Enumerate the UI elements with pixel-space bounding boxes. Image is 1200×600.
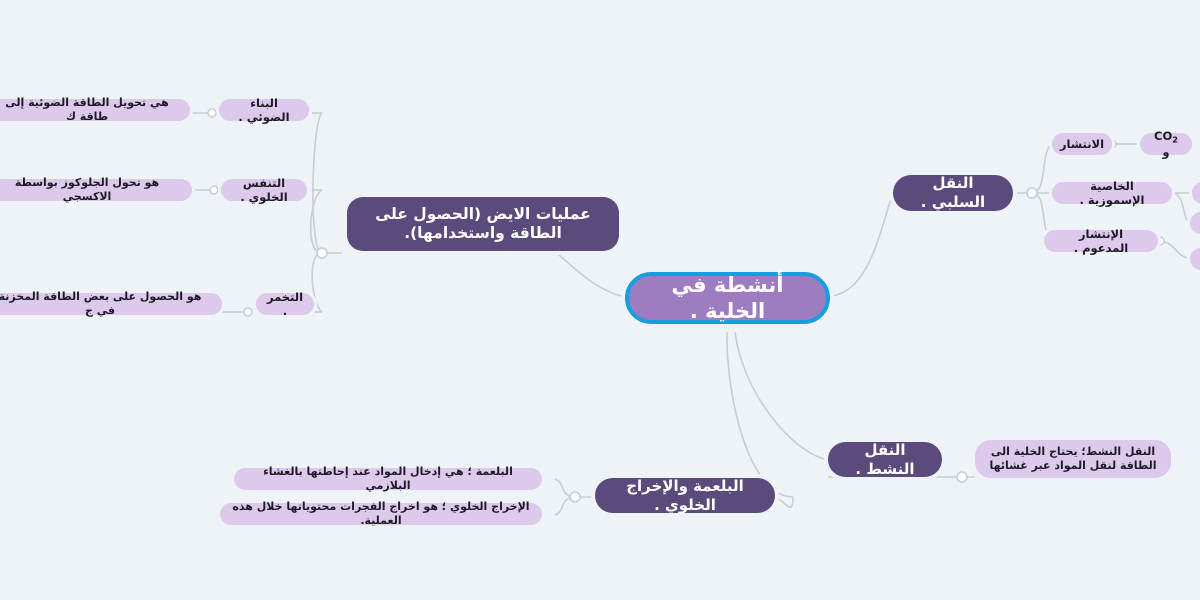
leaf-node-cellular-respiration[interactable]: التنفس الخلوي . [221,179,307,201]
junction-metabolism [317,248,327,258]
leaf-node-facilitated-diffusion[interactable]: الإنتشار المدعوم . [1044,230,1158,252]
link-facilitated-sub [1158,241,1190,258]
branch-node-active-transport[interactable]: النقل النشط . [828,442,942,477]
link-metabolism-branch-photosynth [313,113,322,253]
sub-node-diffusion-co2-label: CO2 و [1151,129,1181,159]
definition-node-phagocytosis[interactable]: البلعمة ؛ هي إدخال المواد عند إحاطتها با… [234,468,542,490]
link-root-endocytosis [727,332,793,497]
definition-node-exocytosis[interactable]: الإخراج الخلوي ؛ هو اخراج الفجرات محتويا… [220,503,542,525]
sub-node-diffusion-co2[interactable]: CO2 و [1140,133,1192,155]
sub-node-facilitated-clipped[interactable] [1190,248,1200,270]
link-endocytosis-stem [772,497,793,507]
link-osmosis-sub2 [1172,193,1190,222]
junction-active [957,472,967,482]
definition-node-cellular-respiration[interactable]: هو تحول الجلوكوز بواسطة الاكسجي [0,179,192,201]
sub-node-osmosis-clipped-b[interactable] [1190,212,1200,234]
sub-node-osmosis-clipped-a[interactable] [1192,182,1200,204]
mindmap-canvas: أنشطة في الخلية . عمليات الايض (الحصول ع… [0,0,1200,600]
definition-node-fermentation[interactable]: هو الحصول على بعض الطاقة المخزنة في ج [0,293,222,315]
link-endo-child-2 [555,497,575,515]
link-metabolism-branch-resp [311,190,322,253]
junction-ferm [244,308,252,316]
junction-endocytosis [570,492,580,502]
leaf-node-diffusion[interactable]: الانتشار [1052,133,1112,155]
junction-photosynth [208,109,216,117]
branch-node-metabolism[interactable]: عمليات الايض (الحصول على الطاقة واستخدام… [347,197,619,251]
link-endo-child-1 [555,479,575,497]
junction-passive [1027,188,1037,198]
link-root-active [735,332,828,460]
leaf-node-osmosis[interactable]: الخاصية الإسموزية . [1052,182,1172,204]
link-root-passive [832,196,892,296]
branch-node-passive-transport[interactable]: النقل السلبي . [893,175,1013,211]
junction-resp [210,186,218,194]
root-node[interactable]: أنشطة في الخلية . [625,272,830,324]
link-passive-branch-diffusion [1032,144,1052,193]
leaf-node-fermentation[interactable]: التخمر . [256,293,314,315]
branch-node-endocytosis-exocytosis[interactable]: البلعمة والإخراج الخلوي . [595,478,775,513]
definition-node-active-transport[interactable]: النقل النشط؛ يحتاج الخلية الى الطاقة لنق… [975,440,1171,478]
leaf-node-photosynthesis[interactable]: البناء الضوئي . [219,99,309,121]
definition-node-photosynthesis[interactable]: هي تحويل الطاقة الضوئية إلى طاقة ك [0,99,190,121]
